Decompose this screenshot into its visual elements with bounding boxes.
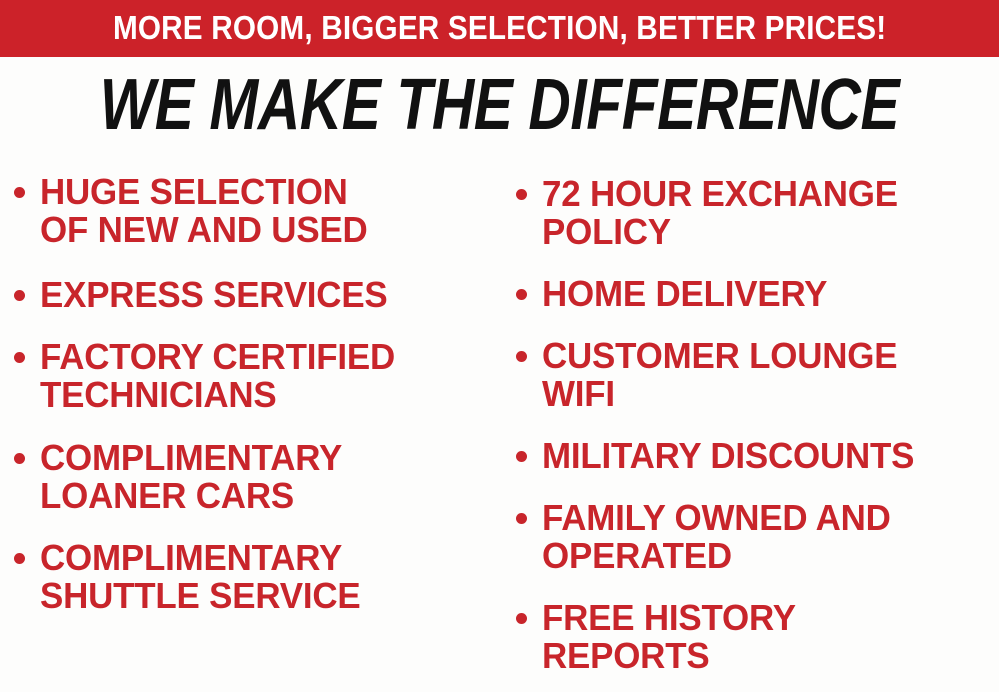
benefit-list-item-label: CUSTOMER LOUNGE WIFI xyxy=(542,337,985,413)
benefit-list-item: FAMILY OWNED AND OPERATED xyxy=(516,499,999,575)
bullet-dot-icon xyxy=(14,453,25,464)
benefit-list-item: HOME DELIVERY xyxy=(516,275,999,313)
benefit-list-item: COMPLIMENTARY LOANER CARS xyxy=(14,439,506,515)
promo-poster: MORE ROOM, BIGGER SELECTION, BETTER PRIC… xyxy=(0,0,999,692)
benefit-list-item: CUSTOMER LOUNGE WIFI xyxy=(516,337,999,413)
benefits-columns: HUGE SELECTION OF NEW AND USEDEXPRESS SE… xyxy=(0,160,999,692)
benefits-column-left: HUGE SELECTION OF NEW AND USEDEXPRESS SE… xyxy=(14,160,506,692)
benefit-list-item: MILITARY DISCOUNTS xyxy=(516,437,999,475)
benefit-list-item-label: HOME DELIVERY xyxy=(542,275,985,313)
banner-headline-text: MORE ROOM, BIGGER SELECTION, BETTER PRIC… xyxy=(113,11,886,46)
headline-container: WE MAKE THE DIFFERENCE xyxy=(0,66,999,144)
benefit-list-item: HUGE SELECTION OF NEW AND USED xyxy=(14,173,506,249)
bullet-dot-icon xyxy=(516,451,527,462)
benefit-list-item: COMPLIMENTARY SHUTTLE SERVICE xyxy=(14,539,506,615)
benefit-list-item-label: FACTORY CERTIFIED TECHNICIANS xyxy=(40,338,492,414)
benefit-list-item-label: COMPLIMENTARY SHUTTLE SERVICE xyxy=(40,539,492,615)
benefit-list-item: FREE HISTORY REPORTS xyxy=(516,599,999,675)
benefit-list-item-label: 72 HOUR EXCHANGE POLICY xyxy=(542,175,985,251)
bullet-dot-icon xyxy=(516,513,527,524)
benefit-list-item-label: MILITARY DISCOUNTS xyxy=(542,437,985,475)
bullet-dot-icon xyxy=(14,187,25,198)
benefit-list-item-label: FREE HISTORY REPORTS xyxy=(542,599,985,675)
page-title: WE MAKE THE DIFFERENCE xyxy=(100,69,900,141)
benefits-column-right: 72 HOUR EXCHANGE POLICYHOME DELIVERYCUST… xyxy=(516,160,999,692)
top-banner: MORE ROOM, BIGGER SELECTION, BETTER PRIC… xyxy=(0,0,999,57)
bullet-dot-icon xyxy=(516,189,527,200)
benefit-list-item: FACTORY CERTIFIED TECHNICIANS xyxy=(14,338,506,414)
benefit-list-item-label: COMPLIMENTARY LOANER CARS xyxy=(40,439,492,515)
bullet-dot-icon xyxy=(516,351,527,362)
bullet-dot-icon xyxy=(516,613,527,624)
bullet-dot-icon xyxy=(14,553,25,564)
benefit-list-item: EXPRESS SERVICES xyxy=(14,276,506,314)
bullet-dot-icon xyxy=(14,290,25,301)
benefit-list-item-label: HUGE SELECTION OF NEW AND USED xyxy=(40,173,492,249)
benefit-list-item: 72 HOUR EXCHANGE POLICY xyxy=(516,175,999,251)
bullet-dot-icon xyxy=(14,352,25,363)
bullet-dot-icon xyxy=(516,289,527,300)
benefit-list-item-label: EXPRESS SERVICES xyxy=(40,276,492,314)
benefit-list-item-label: FAMILY OWNED AND OPERATED xyxy=(542,499,985,575)
